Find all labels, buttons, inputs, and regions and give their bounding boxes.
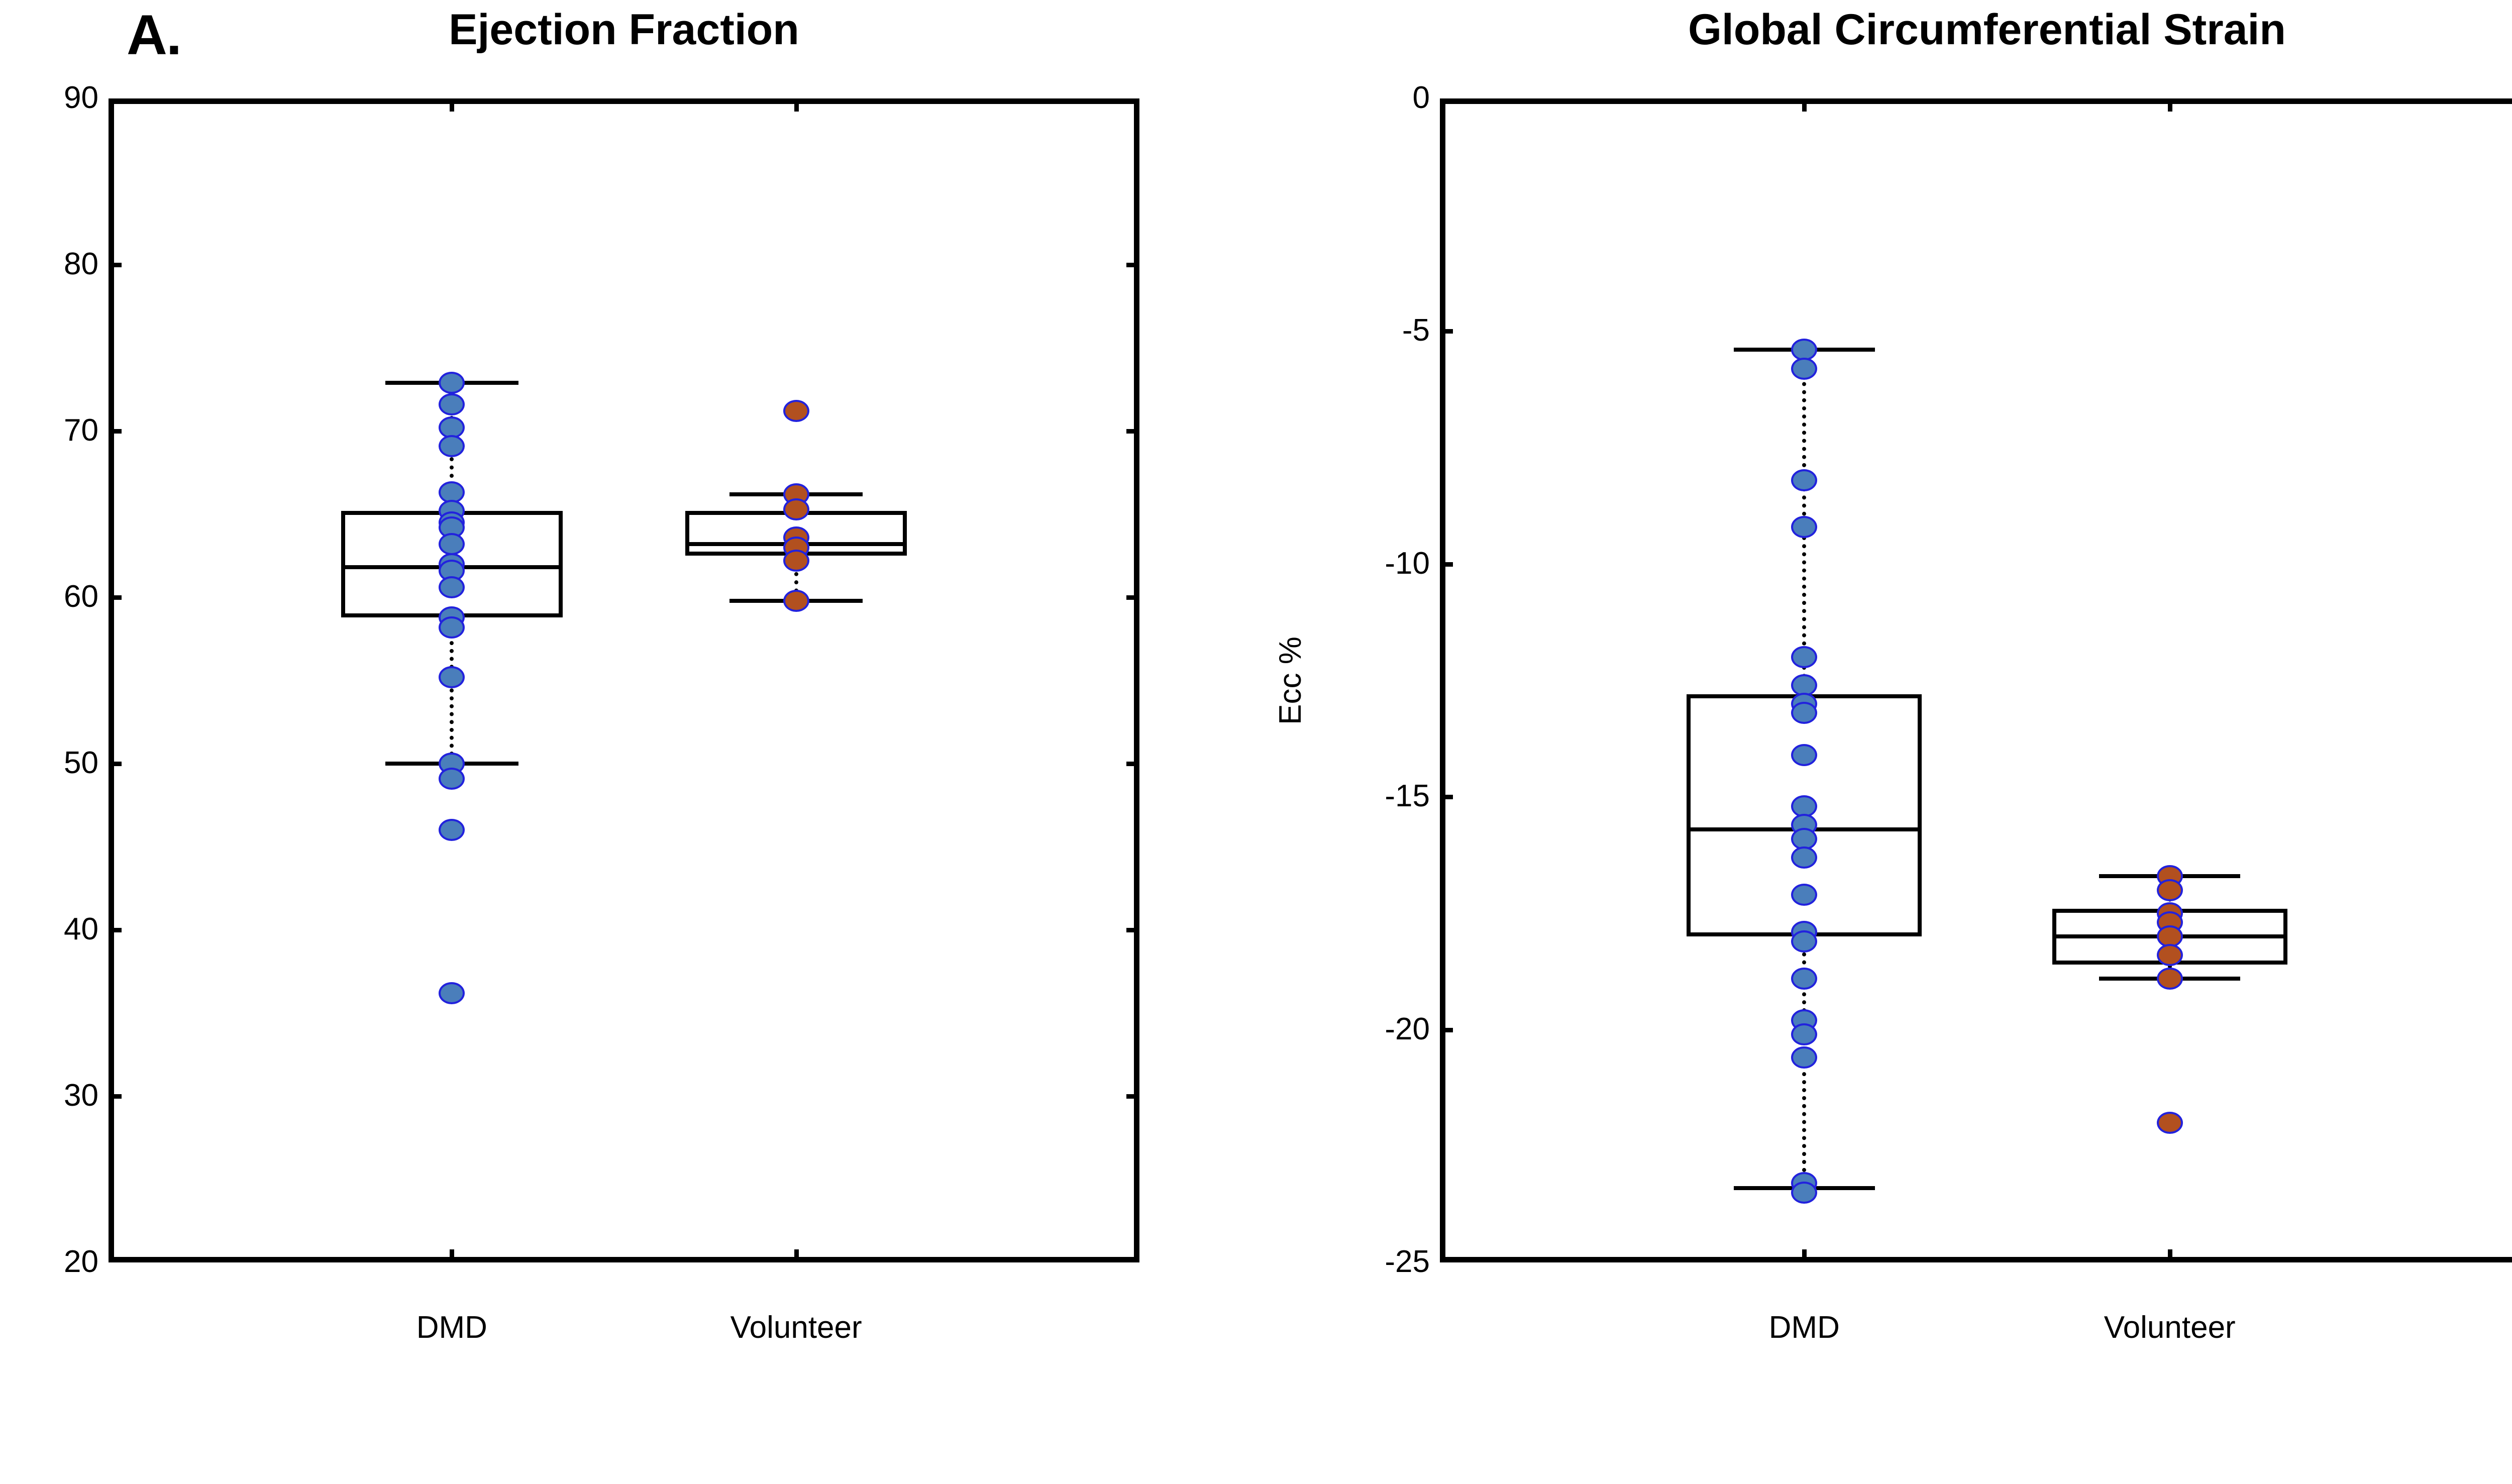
panel-lv-twist: LV Twist2520151050Twist (Degrees)DMDVolu… [0, 0, 2512, 1484]
figure-panel-a: A.Ejection Fraction9080706050403020EF %D… [0, 0, 2512, 1484]
